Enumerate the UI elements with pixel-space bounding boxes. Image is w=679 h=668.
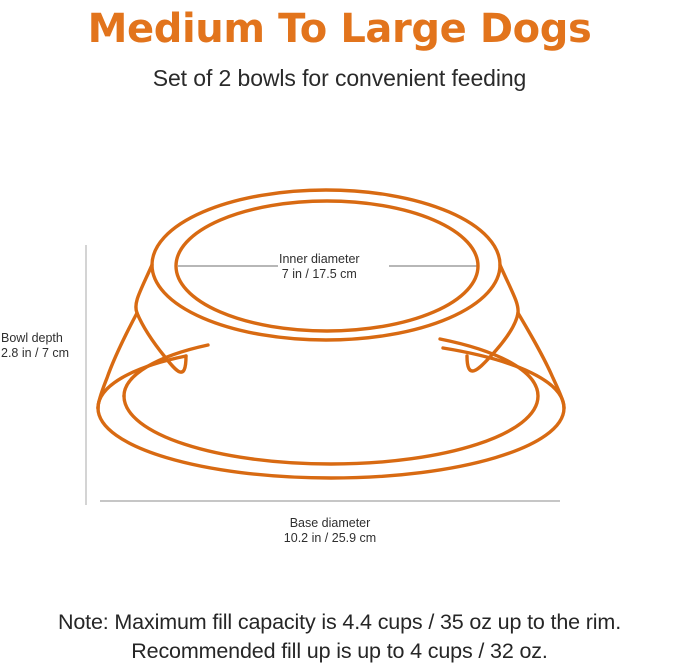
bowl-depth-label-line2: 2.8 in / 7 cm — [1, 346, 69, 361]
fill-capacity-note: Note: Maximum fill capacity is 4.4 cups … — [0, 608, 679, 666]
inner-diameter-label-line1: Inner diameter — [279, 252, 360, 267]
page-title: Medium To Large Dogs — [0, 0, 679, 54]
base-outer-ellipse-front — [98, 348, 564, 478]
bowl-wall-right-outer — [467, 265, 518, 371]
inner-diameter-label-line2: 7 in / 17.5 cm — [279, 267, 360, 282]
inner-diameter-label: Inner diameter 7 in / 17.5 cm — [279, 252, 360, 282]
bowl-depth-label: Bowl depth 2.8 in / 7 cm — [1, 331, 69, 361]
bowl-foot-flare-right — [518, 313, 564, 408]
base-outer-ellipse-left-back — [98, 356, 186, 408]
base-inner-ellipse-front — [124, 339, 538, 464]
bowl-depth-label-line1: Bowl depth — [1, 331, 69, 346]
bowl-illustration-svg — [0, 0, 679, 668]
note-line-2: Recommended fill up is up to 4 cups / 32… — [0, 637, 679, 666]
base-diameter-label: Base diameter 10.2 in / 25.9 cm — [284, 516, 376, 546]
bowl-wall-left-outer — [136, 265, 186, 372]
base-diameter-label-line2: 10.2 in / 25.9 cm — [284, 531, 376, 546]
base-inner-ellipse-left-back — [124, 345, 208, 396]
note-line-1: Note: Maximum fill capacity is 4.4 cups … — [0, 608, 679, 637]
header: Medium To Large Dogs Set of 2 bowls for … — [0, 0, 679, 92]
page-subtitle: Set of 2 bowls for convenient feeding — [0, 54, 679, 92]
bowl-foot-flare-left — [98, 313, 137, 408]
base-diameter-label-line1: Base diameter — [284, 516, 376, 531]
bowl-diagram — [0, 0, 679, 668]
